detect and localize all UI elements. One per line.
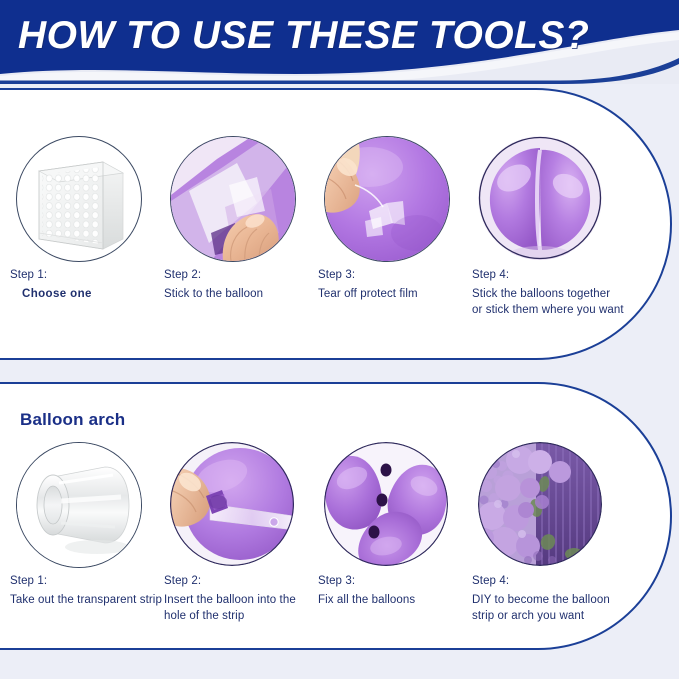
- step-desc: Take out the transparent strip: [10, 593, 162, 609]
- step-media-1-4: [478, 136, 602, 260]
- transparent-strip-roll-photo: [16, 442, 142, 568]
- step-label-2-1: Step 1: Take out the transparent strip: [10, 574, 162, 609]
- peeling-film-icon: [325, 137, 449, 261]
- step-label-1-1: Step 1: Choose one: [10, 268, 162, 303]
- step-desc: Insert the balloon into the hole of the …: [164, 593, 316, 625]
- balloon-arch-result-icon: [478, 442, 602, 566]
- step-desc: Fix all the balloons: [318, 593, 470, 609]
- step-media-2-1: [16, 442, 140, 566]
- panel-2-content: Balloon arch: [2, 384, 674, 648]
- hand-sticking-dot-icon: [171, 137, 295, 261]
- two-balloons-joined-icon: [478, 136, 602, 260]
- step-label-1-4: Step 4: Stick the balloons together or s…: [472, 268, 624, 319]
- step-number: Step 4:: [472, 574, 624, 590]
- page-header: HOW TO USE THESE TOOLS?: [0, 0, 679, 84]
- step-media-2-4: [478, 442, 602, 566]
- balloon-arch-result-photo: [478, 442, 602, 566]
- glue-dot-sheet-icon: [17, 137, 141, 261]
- step-number: Step 1:: [10, 268, 162, 284]
- step-number: Step 3:: [318, 574, 470, 590]
- step-cell-2-2: Step 2: Insert the balloon into the hole…: [164, 442, 316, 625]
- step-number: Step 2:: [164, 268, 316, 284]
- step-number: Step 2:: [164, 574, 316, 590]
- panel-balloon-arch: Balloon arch: [0, 382, 672, 650]
- step-cell-1-1: Step 1: Choose one: [10, 136, 162, 303]
- step-media-2-3: [324, 442, 448, 566]
- section-title-balloon-arch: Balloon arch: [20, 410, 125, 430]
- step-label-2-2: Step 2: Insert the balloon into the hole…: [164, 574, 316, 625]
- step-number: Step 3:: [318, 268, 470, 284]
- transparent-strip-roll-icon: [17, 443, 141, 567]
- step-label-2-4: Step 4: DIY to become the balloon strip …: [472, 574, 624, 625]
- step-cell-2-3: Step 3: Fix all the balloons: [318, 442, 470, 609]
- step-number: Step 1:: [10, 574, 162, 590]
- step-desc: Stick the balloons together or stick the…: [472, 287, 624, 319]
- step-desc: Choose one: [22, 287, 162, 303]
- inserting-balloon-icon: [170, 442, 294, 566]
- two-balloons-joined-photo: [478, 136, 602, 260]
- page-title: HOW TO USE THESE TOOLS?: [18, 14, 589, 58]
- step-cell-2-4: Step 4: DIY to become the balloon strip …: [472, 442, 624, 625]
- panel-balloon-glue-dots: Step 1: Choose one: [0, 88, 672, 360]
- hand-sticking-dot-photo: [170, 136, 296, 262]
- glue-dot-sheet-photo: [16, 136, 142, 262]
- panel-1-content: Step 1: Choose one: [2, 90, 674, 358]
- step-cell-1-3: Step 3: Tear off protect film: [318, 136, 470, 303]
- fixed-balloons-icon: [324, 442, 448, 566]
- peeling-film-photo: [324, 136, 450, 262]
- step-media-1-1: [16, 136, 140, 260]
- step-media-1-3: [324, 136, 448, 260]
- step-cell-2-1: Step 1: Take out the transparent strip: [10, 442, 162, 609]
- step-number: Step 4:: [472, 268, 624, 284]
- step-cell-1-2: Step 2: Stick to the balloon: [164, 136, 316, 303]
- step-media-2-2: [170, 442, 294, 566]
- fixed-balloons-photo: [324, 442, 448, 566]
- inserting-balloon-photo: [170, 442, 294, 566]
- step-cell-1-4: Step 4: Stick the balloons together or s…: [472, 136, 624, 319]
- step-label-1-3: Step 3: Tear off protect film: [318, 268, 470, 303]
- step-media-1-2: [170, 136, 294, 260]
- step-label-2-3: Step 3: Fix all the balloons: [318, 574, 470, 609]
- step-desc: Tear off protect film: [318, 287, 470, 303]
- step-desc: Stick to the balloon: [164, 287, 316, 303]
- step-desc: DIY to become the balloon strip or arch …: [472, 593, 624, 625]
- step-label-1-2: Step 2: Stick to the balloon: [164, 268, 316, 303]
